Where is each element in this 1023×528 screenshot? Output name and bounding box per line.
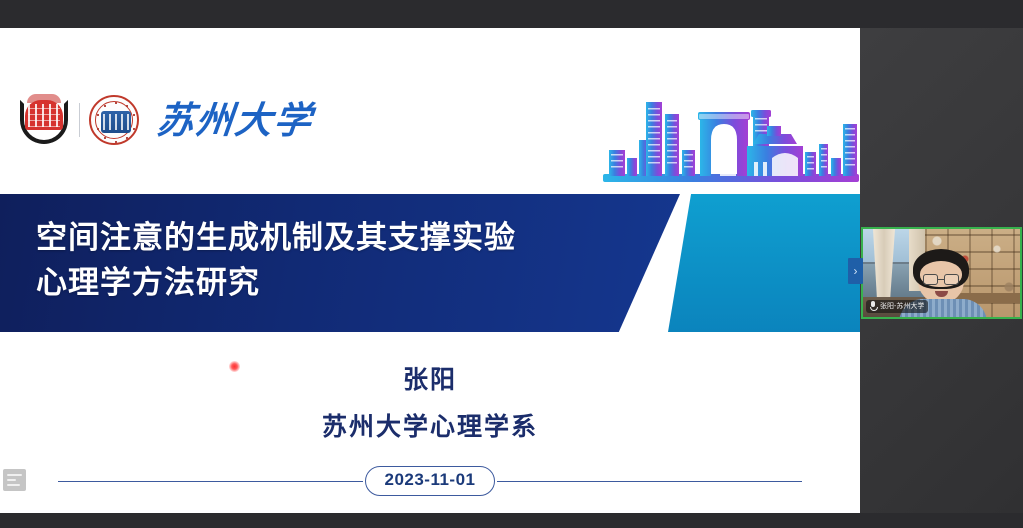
date-rule-right xyxy=(497,481,802,482)
university-logo-block: 苏州大学 xyxy=(18,90,313,150)
zoom-meeting-window: 苏州大学 xyxy=(0,0,1023,528)
date-rule-left xyxy=(58,481,363,482)
window-bottom-bar xyxy=(0,513,1023,528)
slide-title-banner: 空间注意的生成机制及其支撑实验 心理学方法研究 xyxy=(0,194,860,332)
suzhou-university-seal-red-icon xyxy=(18,94,70,146)
shared-screen-slide[interactable]: 苏州大学 xyxy=(0,28,860,513)
participant-name: 张阳-苏州大学 xyxy=(880,302,924,311)
suzhou-skyline-icon xyxy=(603,88,859,184)
slide-title: 空间注意的生成机制及其支撑实验 心理学方法研究 xyxy=(36,216,636,306)
participant-name-badge: 张阳-苏州大学 xyxy=(866,300,928,313)
presenter-affiliation: 苏州大学心理学系 xyxy=(0,407,860,443)
speaker-video-thumbnail[interactable]: 张阳-苏州大学 xyxy=(861,227,1022,319)
banner-cyan-shape xyxy=(668,194,860,332)
chevron-right-icon[interactable]: › xyxy=(848,258,863,284)
university-wordmark: 苏州大学 xyxy=(155,102,315,139)
window-top-bar xyxy=(0,0,1023,28)
slide-date-row: 2023-11-01 xyxy=(0,466,860,496)
laser-pointer-dot xyxy=(229,361,240,372)
soochow-university-round-seal-icon xyxy=(89,95,139,145)
microphone-icon xyxy=(869,301,877,311)
presenter-name: 张阳 xyxy=(0,360,860,396)
annotation-toolbar-icon[interactable] xyxy=(3,469,26,491)
slide-date: 2023-11-01 xyxy=(365,466,494,496)
logo-divider xyxy=(79,103,80,137)
